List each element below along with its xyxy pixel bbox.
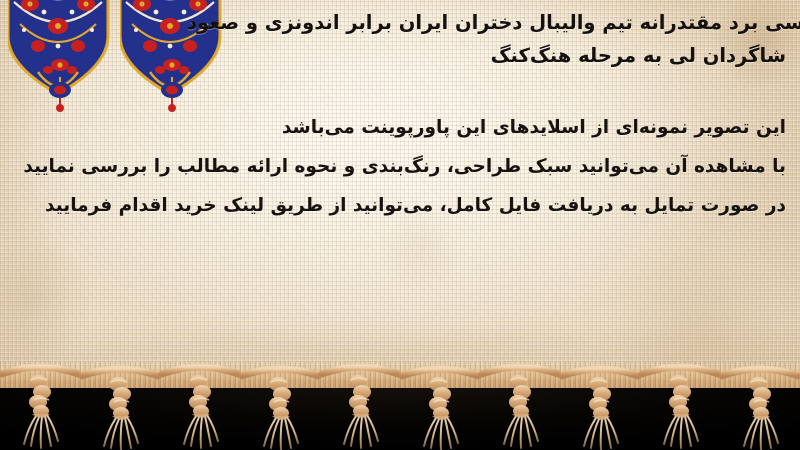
carpet-fringe-tassels: [0, 358, 800, 450]
slide-canvas: سی برد مقتدرانه تیم والیبال دختران ایران…: [0, 0, 800, 450]
headline-line-1: سی برد مقتدرانه تیم والیبال دختران ایران…: [16, 6, 800, 39]
headline: سی برد مقتدرانه تیم والیبال دختران ایران…: [16, 6, 786, 72]
body-line-1: این تصویر نمونه‌ای از اسلایدهای این پاور…: [14, 108, 786, 147]
body-copy: این تصویر نمونه‌ای از اسلایدهای این پاور…: [14, 108, 786, 225]
body-line-2: با مشاهده آن می‌توانید سبک طراحی، رنگ‌بن…: [14, 147, 786, 186]
body-line-3: در صورت تمایل به دریافت فایل کامل، می‌تو…: [14, 186, 786, 225]
headline-line-2: شاگردان لی به مرحله هنگ‌کنگ: [16, 39, 786, 72]
